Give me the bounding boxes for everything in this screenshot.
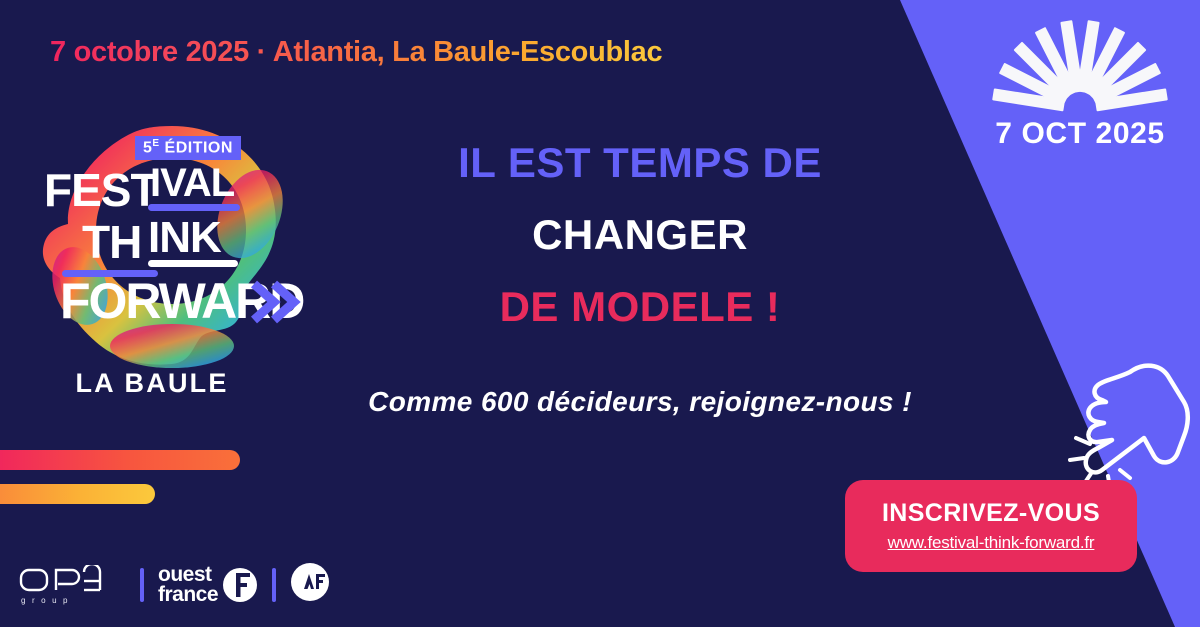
headline-line-1: IL EST TEMPS DE (370, 140, 910, 186)
cta-title: INSCRIVEZ-VOUS (882, 499, 1100, 528)
svg-text:INK: INK (148, 213, 222, 262)
gradient-bar-pink-orange (0, 450, 240, 470)
headline-line-3: DE MODELE ! (370, 284, 910, 330)
edition-word: ÉDITION (165, 139, 233, 156)
ouest-france-mark-icon (222, 567, 258, 603)
sunburst-fan-icon (985, 18, 1175, 113)
subheadline: Comme 600 décideurs, rejoignez-nous ! (330, 382, 950, 423)
date-badge-text: 7 OCT 2025 (985, 117, 1175, 151)
opa-logo-icon (18, 565, 126, 595)
partner-divider-1 (140, 568, 144, 602)
date-badge: 7 OCT 2025 (985, 18, 1175, 151)
svg-text:TH: TH (82, 216, 141, 268)
edition-superscript: E (152, 138, 159, 149)
partner-logo-ouest-france[interactable]: ouestfrance (158, 565, 258, 605)
register-cta-button[interactable]: INSCRIVEZ-VOUS www.festival-think-forwar… (845, 480, 1137, 572)
headline-block: IL EST TEMPS DE CHANGER DE MODELE ! (370, 140, 910, 331)
ouest-france-wordmark: ouestfrance (158, 565, 218, 605)
partner-logo-af[interactable] (290, 562, 330, 607)
festival-logo[interactable]: 5E ÉDITION FEST IVAL TH INK FORWARD (22, 118, 322, 403)
event-date-location-header: 7 octobre 2025 · Atlantia, La Baule-Esco… (50, 36, 662, 69)
partner-logos: group ouestfrance (18, 562, 330, 607)
logo-wordmark: FEST IVAL TH INK FORWARD (22, 158, 322, 338)
headline-line-2: CHANGER (370, 212, 910, 258)
svg-text:FEST: FEST (44, 164, 158, 216)
festival-promo-banner: 7 octobre 2025 · Atlantia, La Baule-Esco… (0, 0, 1200, 627)
opa-logo-subtitle: group (18, 596, 126, 605)
partner-divider-2 (272, 568, 276, 602)
svg-text:IVAL: IVAL (150, 161, 235, 205)
edition-badge: 5E ÉDITION (135, 136, 241, 160)
pointing-hand-click-icon (1068, 352, 1193, 487)
af-logo-icon (290, 562, 330, 602)
partner-logo-opa[interactable]: group (18, 565, 126, 605)
edition-number: 5 (143, 139, 152, 156)
cta-url-link[interactable]: www.festival-think-forward.fr (888, 533, 1095, 553)
gradient-bar-orange-yellow (0, 484, 155, 504)
logo-city-label: LA BAULE (22, 368, 282, 399)
